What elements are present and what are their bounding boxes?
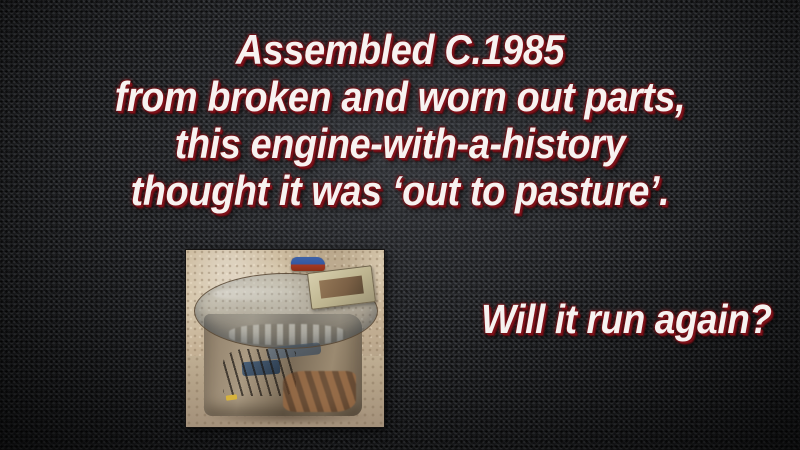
headline-line-1: Assembled C.1985: [40, 26, 760, 73]
headline-line-2: from broken and worn out parts,: [40, 73, 760, 120]
photo-magazine-picture: [319, 276, 364, 300]
photo-exhaust-manifold: [283, 371, 356, 412]
photo-yellow-tag: [226, 394, 238, 401]
presentation-slide: Assembled C.1985 from broken and worn ou…: [0, 0, 800, 450]
headline-line-4: thought it was ‘out to pasture’.: [40, 167, 760, 214]
headline-line-3: this engine-with-a-history: [40, 120, 760, 167]
engine-table-photo: [186, 250, 384, 427]
photo-glass-reflection: [213, 287, 308, 300]
question-line-1: Will it run again?: [481, 296, 771, 343]
photo-toy-car: [291, 257, 325, 271]
headline-text-block: Assembled C.1985 from broken and worn ou…: [0, 26, 800, 214]
question-text-block: Will it run again?: [465, 296, 788, 343]
